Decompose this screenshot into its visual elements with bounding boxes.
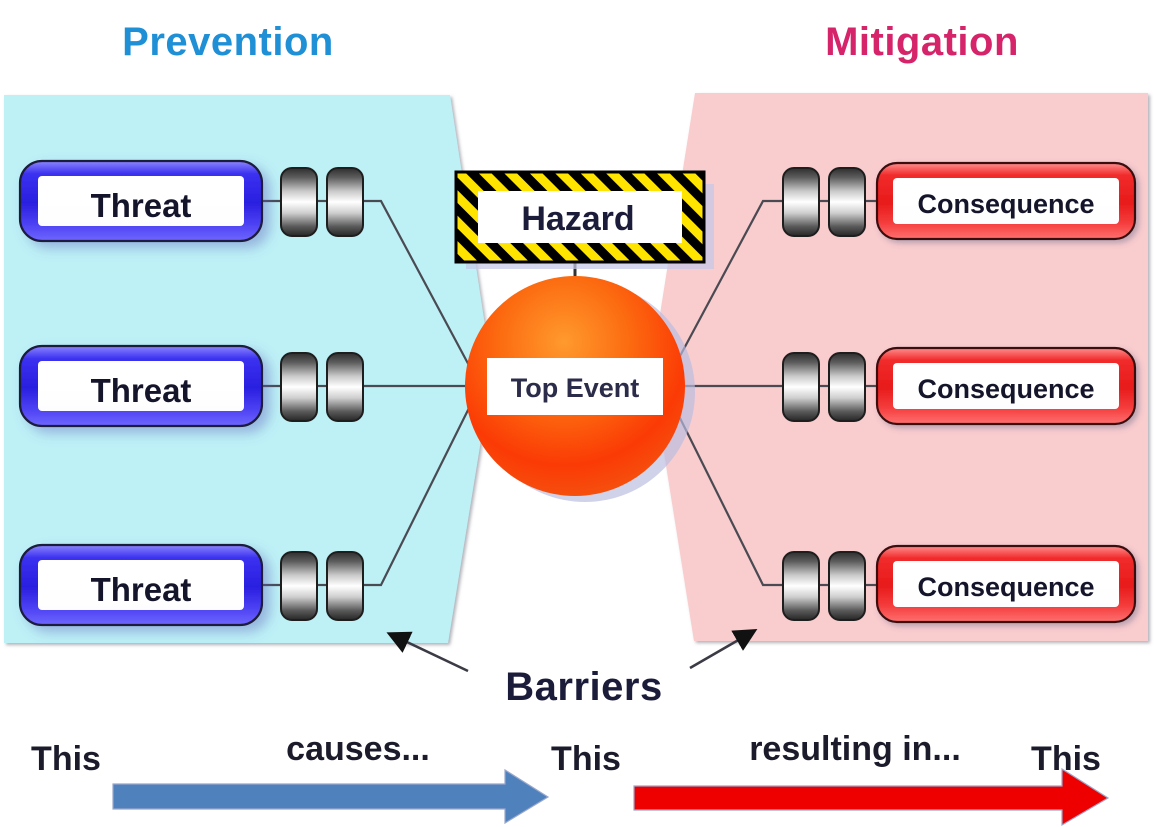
- barrier-cylinder-icon[interactable]: [783, 168, 819, 236]
- threat-row-2: Threat: [20, 346, 363, 426]
- diagram-svg: Threat Threat: [0, 0, 1170, 827]
- flow-this-mid: This: [551, 740, 621, 778]
- mitigation-title: Mitigation: [825, 20, 1019, 64]
- barriers-label: Barriers: [505, 665, 662, 709]
- barrier-cylinder-icon[interactable]: [281, 353, 317, 421]
- barrier-cylinder-icon[interactable]: [829, 353, 865, 421]
- consequence-row-2: Consequence: [783, 348, 1135, 424]
- barrier-cylinder-icon[interactable]: [783, 353, 819, 421]
- threat-label: Threat: [91, 187, 192, 224]
- barrier-cylinder-icon[interactable]: [281, 552, 317, 620]
- barrier-cylinder-icon[interactable]: [829, 168, 865, 236]
- consequence-row-3: Consequence: [783, 546, 1135, 622]
- flow-causes: causes...: [286, 730, 430, 768]
- barrier-cylinder-icon[interactable]: [281, 168, 317, 236]
- consequence-label: Consequence: [917, 374, 1094, 404]
- threat-row-3: Threat: [20, 545, 363, 625]
- flow-this-left: This: [31, 740, 101, 778]
- barrier-cylinder-icon[interactable]: [327, 552, 363, 620]
- flow-resulting: resulting in...: [749, 730, 961, 768]
- consequence-row-1: Consequence: [783, 163, 1135, 239]
- threat-label: Threat: [91, 372, 192, 409]
- barrier-cylinder-icon[interactable]: [783, 552, 819, 620]
- barrier-cylinder-icon[interactable]: [829, 552, 865, 620]
- threat-label: Threat: [91, 571, 192, 608]
- top-event-label: Top Event: [511, 373, 640, 403]
- consequence-label: Consequence: [917, 189, 1094, 219]
- barrier-cylinder-icon[interactable]: [327, 353, 363, 421]
- prevention-title: Prevention: [122, 20, 334, 64]
- threat-row-1: Threat: [20, 161, 363, 241]
- barrier-cylinder-icon[interactable]: [327, 168, 363, 236]
- consequence-label: Consequence: [917, 572, 1094, 602]
- flow-arrow-blue: [113, 770, 548, 823]
- bowtie-diagram-canvas: Threat Threat: [0, 0, 1170, 827]
- hazard-label: Hazard: [521, 200, 634, 238]
